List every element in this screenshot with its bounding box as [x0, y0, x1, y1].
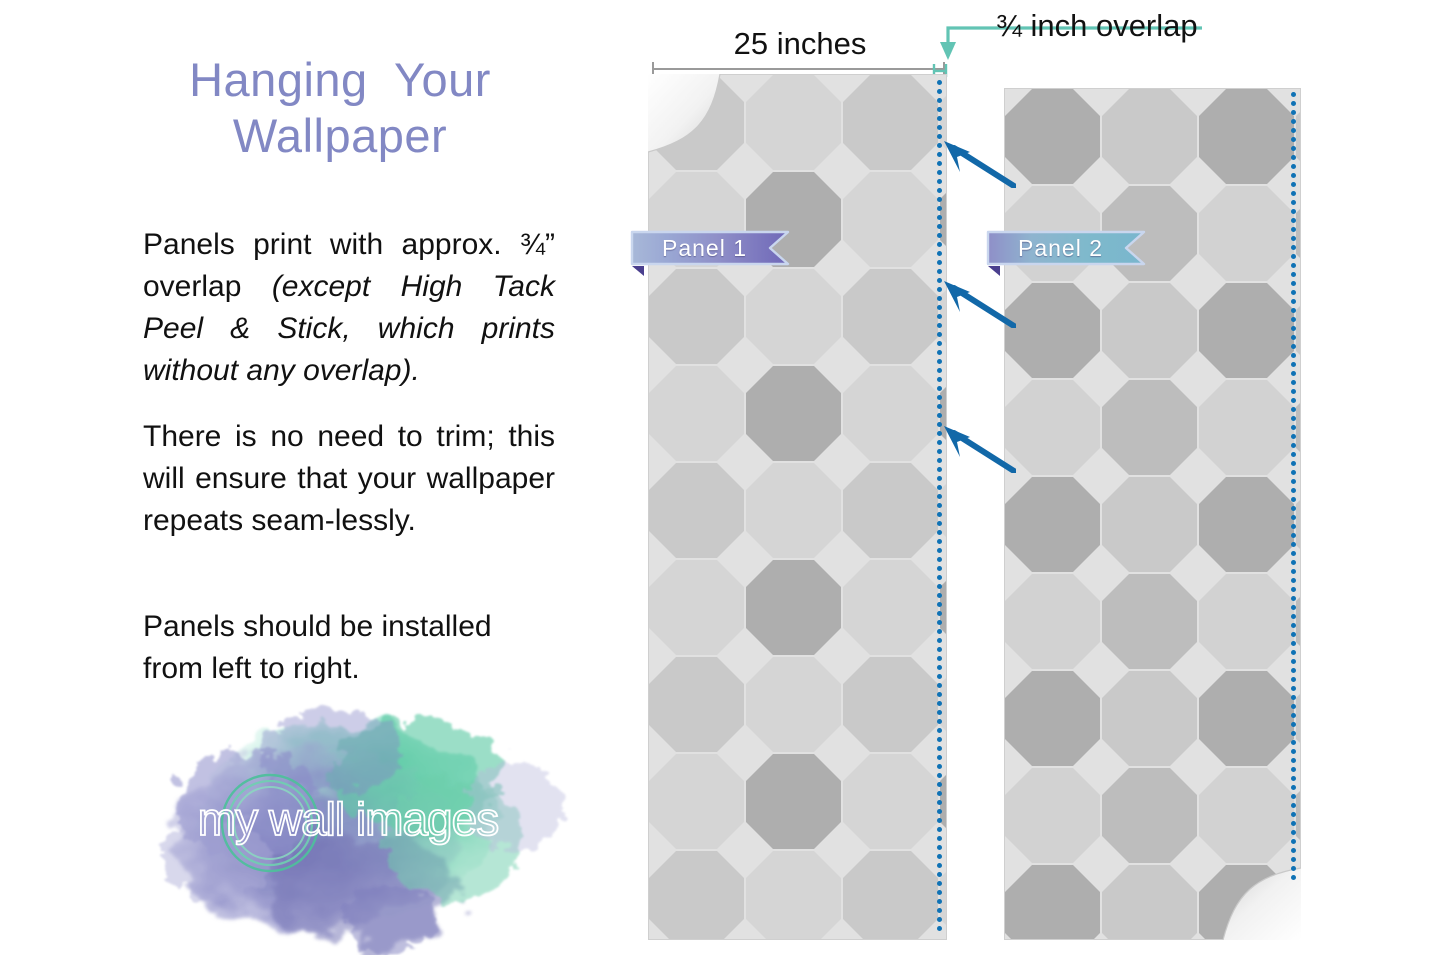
panel-1[interactable]: [648, 74, 947, 940]
page-title-line-2: Wallpaper: [120, 108, 560, 164]
logo-artwork: my wall images: [98, 655, 598, 955]
seam-arrow-3: [936, 423, 1016, 473]
overlap-label: ¾ inch overlap: [996, 8, 1198, 44]
panel-1-banner-label: Panel 1: [630, 230, 790, 266]
dimension-bar: [652, 68, 945, 70]
paragraph-no-trim: There is no need to trim; this will ensu…: [143, 416, 555, 542]
instruction-sheet: Hanging Your Wallpaper Panels print with…: [0, 0, 1445, 962]
panel-2-banner[interactable]: Panel 2: [986, 230, 1146, 266]
panel-1-seam-dots: [937, 80, 942, 936]
panel-2-banner-label: Panel 2: [986, 230, 1146, 266]
page-title-line-1: Hanging Your: [120, 52, 560, 108]
page-title: Hanging Your Wallpaper: [120, 52, 560, 164]
panel-diagram: 25 inches ¾ inch overlap: [600, 0, 1445, 962]
seam-arrow-1: [936, 138, 1016, 188]
panel-2-seam-dots: [1291, 92, 1296, 886]
dimension-label-25-inches: 25 inches: [695, 26, 905, 62]
panel-2[interactable]: [1004, 88, 1301, 940]
panel-1-pattern: [648, 74, 947, 940]
logo-wordmark: my wall images: [198, 793, 498, 845]
seam-arrow-2: [936, 278, 1016, 328]
paragraph-overlap-info: Panels print with approx. ¾” overlap (ex…: [143, 224, 555, 392]
panel-1-banner[interactable]: Panel 1: [630, 230, 790, 266]
brand-logo: my wall images: [98, 655, 598, 955]
panel-2-pattern: [1004, 88, 1301, 940]
instructions-column: Hanging Your Wallpaper Panels print with…: [0, 0, 600, 962]
